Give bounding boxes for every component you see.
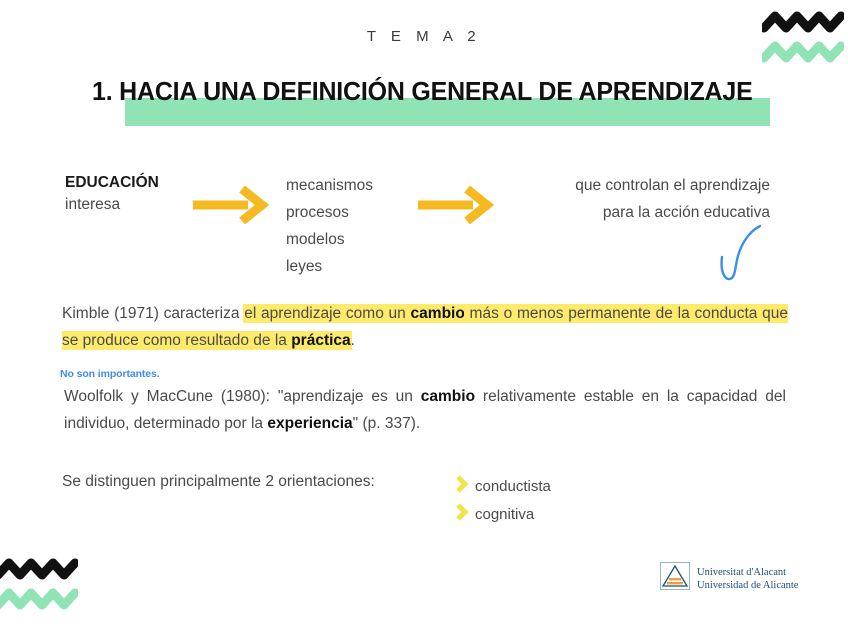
title-text: 1. HACIA UNA DEFINICIÓN GENERAL DE APREN… — [92, 76, 753, 107]
list-item: conductista — [455, 472, 551, 500]
tema-label: T E M A 2 — [0, 28, 848, 45]
right-arrow-icon — [190, 186, 274, 224]
slide-canvas: T E M A 2 1. HACIA UNA DEFINICIÓN GENERA… — [0, 0, 848, 636]
diagram-subtext-interesa: interesa — [65, 193, 159, 216]
chevron-right-icon — [455, 502, 469, 527]
diagram-column-educacion: EDUCACIÓN interesa — [65, 172, 159, 216]
diagram-line: modelos — [286, 226, 373, 253]
list-item: cognitiva — [455, 500, 551, 528]
list-item-label: conductista — [475, 478, 551, 495]
kimble-highlight-bold-practica: práctica — [291, 332, 350, 349]
right-arrow-icon — [415, 186, 499, 224]
kimble-suffix: . — [351, 332, 355, 349]
diagram-column-mecanismos: mecanismos procesos modelos leyes — [286, 172, 373, 280]
paragraph-kimble: Kimble (1971) caracteriza el aprendizaje… — [62, 300, 788, 354]
kimble-highlight-1: el aprendizaje como un — [244, 305, 410, 322]
woolfolk-part-1: Woolfolk y MacCune (1980): "aprendizaje … — [64, 388, 421, 405]
zigzag-decoration-icon — [0, 557, 78, 618]
list-item-label: cognitiva — [475, 506, 534, 523]
orientaciones-intro: Se distinguen principalmente 2 orientaci… — [62, 473, 375, 491]
logo-line-valencian: Universitat d'Alacant — [697, 566, 798, 579]
chevron-right-icon — [455, 474, 469, 499]
logo-line-spanish: Universidad de Alicante — [697, 579, 798, 592]
university-alicante-logo-icon — [660, 562, 690, 595]
diagram-line: mecanismos — [286, 172, 373, 199]
university-logo: Universitat d'Alacant Universidad de Ali… — [660, 562, 798, 595]
annotation-note: No son importantes. — [60, 368, 160, 380]
diagram-line: leyes — [286, 253, 373, 280]
diagram-column-controlan: que controlan el aprendizaje para la acc… — [520, 172, 770, 226]
university-logo-text: Universitat d'Alacant Universidad de Ali… — [697, 566, 798, 592]
woolfolk-part-3: " (p. 337). — [353, 415, 421, 432]
page-title: 1. HACIA UNA DEFINICIÓN GENERAL DE APREN… — [92, 76, 792, 128]
orientaciones-list: conductista cognitiva — [455, 472, 551, 528]
woolfolk-bold-cambio: cambio — [421, 388, 475, 405]
kimble-plain-prefix: Kimble (1971) caracteriza — [62, 305, 244, 322]
diagram-heading-educacion: EDUCACIÓN — [65, 172, 159, 193]
handdrawn-checkmark-icon — [712, 222, 772, 289]
kimble-highlight-bold-cambio: cambio — [411, 305, 465, 322]
diagram-line: que controlan el aprendizaje — [520, 172, 770, 199]
woolfolk-bold-experiencia: experiencia — [267, 415, 352, 432]
paragraph-woolfolk: Woolfolk y MacCune (1980): "aprendizaje … — [64, 383, 786, 437]
diagram-line: procesos — [286, 199, 373, 226]
